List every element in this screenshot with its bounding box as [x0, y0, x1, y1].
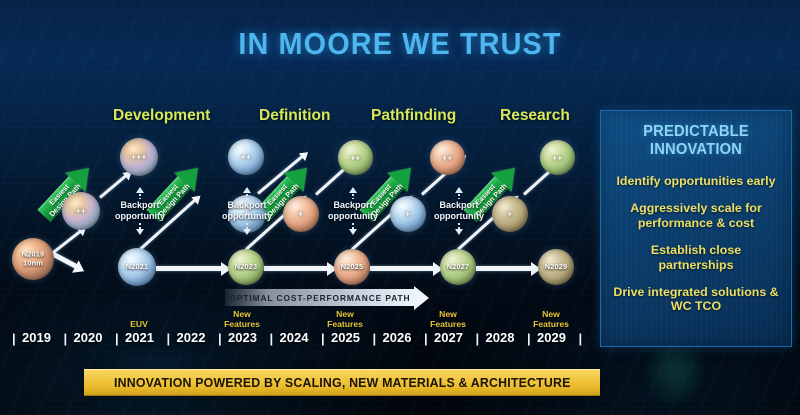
timeline-note: New Features — [525, 310, 577, 329]
node-n2023: N2023 — [228, 249, 264, 285]
backport-opportunity: Backport opportunity — [417, 200, 501, 222]
node-n2021-plusplus: ++ — [228, 139, 264, 175]
node-n2027-plusplus: ++ — [540, 140, 575, 175]
node-n2025: N2025 — [334, 249, 370, 285]
optimal-cost-performance-path: OPTIMAL COST-PERFORMANCE PATH — [225, 289, 415, 306]
timeline-tick: | — [270, 331, 274, 346]
node-plus-marker: ++ — [540, 153, 575, 162]
timeline-year-2029: 2029 — [537, 330, 566, 345]
backport-opportunity: Backport opportunity — [98, 200, 182, 222]
timeline-year-2027: 2027 — [434, 330, 463, 345]
optimal-path-label: OPTIMAL COST-PERFORMANCE PATH — [229, 293, 410, 303]
timeline-tick: | — [115, 331, 119, 346]
node-n2019-plusplusplus: +++ — [120, 138, 158, 176]
flow-arrow — [156, 266, 222, 271]
backport-opportunity: Backport opportunity — [311, 200, 395, 222]
timeline-year-2023: 2023 — [228, 330, 257, 345]
node-n2025-plusplus: ++ — [430, 140, 465, 175]
timeline-tick: | — [424, 331, 428, 346]
timeline-year-2024: 2024 — [280, 330, 309, 345]
dotted-line — [352, 190, 354, 199]
node-plus-marker: ++ — [62, 207, 100, 216]
panel-bullet-item: Establish close partnerships — [613, 243, 779, 272]
node-label: N201910nm — [6, 251, 60, 268]
timeline-year-2022: 2022 — [177, 330, 206, 345]
flow-arrow — [99, 174, 127, 198]
timeline-note: New Features — [319, 310, 371, 329]
panel-bullet-list: Identify opportunities earlyAggressively… — [601, 159, 791, 314]
stage-label-research: Research — [500, 107, 570, 125]
node-n2023-plusplus: ++ — [338, 140, 373, 175]
timeline-year-2019: 2019 — [22, 330, 51, 345]
node-label: N2023 — [222, 263, 270, 272]
bottom-banner: INNOVATION POWERED BY SCALING, NEW MATER… — [84, 369, 600, 396]
bottom-banner-label: INNOVATION POWERED BY SCALING, NEW MATER… — [114, 375, 571, 390]
timeline-tick: | — [373, 331, 377, 346]
timeline-note: EUV — [113, 320, 165, 330]
timeline-tick: | — [64, 331, 68, 346]
timeline-tick: | — [579, 331, 583, 346]
timeline-tick: | — [12, 331, 16, 346]
node-n2019: N201910nm — [12, 238, 54, 280]
timeline-tick: | — [167, 331, 171, 346]
node-n2019-plusplus: ++ — [62, 192, 100, 230]
timeline-year-2020: 2020 — [74, 330, 103, 345]
arrow-down-icon — [455, 229, 463, 235]
timeline-note: New Features — [422, 310, 474, 329]
flow-arrow — [370, 266, 434, 271]
stage-label-pathfinding: Pathfinding — [371, 107, 456, 125]
timeline-year-2025: 2025 — [331, 330, 360, 345]
node-plus-marker: ++ — [338, 153, 373, 162]
dotted-line — [139, 190, 141, 199]
panel-bullet-item: Aggressively scale for performance & cos… — [613, 201, 779, 230]
panel-bullet-item: Identify opportunities early — [613, 174, 779, 188]
node-n2021: N2021 — [118, 248, 156, 286]
node-plus-marker: +++ — [120, 153, 158, 162]
predictable-innovation-panel: PREDICTABLE INNOVATION Identify opportun… — [600, 110, 792, 347]
dotted-line — [246, 190, 248, 199]
timeline-tick: | — [476, 331, 480, 346]
timeline-tick: | — [527, 331, 531, 346]
backport-label: Backport opportunity — [98, 200, 182, 222]
node-n2029: N2029 — [538, 249, 574, 285]
timeline-axis: |2019|2020|2021|2022|2023|2024|2025|2026… — [8, 330, 588, 354]
timeline-note: New Features — [216, 310, 268, 329]
backport-label: Backport opportunity — [311, 200, 395, 222]
node-label: N2025 — [328, 263, 376, 272]
node-label: N2021 — [112, 263, 162, 272]
timeline-year-2026: 2026 — [383, 330, 412, 345]
node-plus-marker: ++ — [430, 153, 465, 162]
stage-label-definition: Definition — [259, 107, 330, 125]
optimal-path-arrowhead — [414, 286, 429, 310]
backport-opportunity: Backport opportunity — [205, 200, 289, 222]
backport-label: Backport opportunity — [205, 200, 289, 222]
flow-arrow — [264, 266, 328, 271]
timeline-year-2021: 2021 — [125, 330, 154, 345]
slide-canvas: IN MOORE WE TRUST DevelopmentDefinitionP… — [0, 0, 800, 415]
timeline-tick: | — [321, 331, 325, 346]
panel-bullet-item: Drive integrated solutions & WC TCO — [613, 285, 779, 314]
node-n2027: N2027 — [440, 249, 476, 285]
arrow-down-icon — [136, 229, 144, 235]
node-label: N2029 — [532, 263, 580, 272]
flow-arrow — [476, 266, 532, 271]
panel-heading: PREDICTABLE INNOVATION — [606, 111, 787, 159]
arrow-down-icon — [349, 229, 357, 235]
node-plus-marker: ++ — [228, 153, 264, 162]
node-label: N2027 — [434, 263, 482, 272]
timeline-tick: | — [218, 331, 222, 346]
backport-label: Backport opportunity — [417, 200, 501, 222]
stage-label-development: Development — [113, 107, 210, 125]
timeline-year-2028: 2028 — [486, 330, 515, 345]
dotted-line — [458, 190, 460, 199]
page-title: IN MOORE WE TRUST — [28, 26, 772, 62]
arrow-down-icon — [243, 229, 251, 235]
